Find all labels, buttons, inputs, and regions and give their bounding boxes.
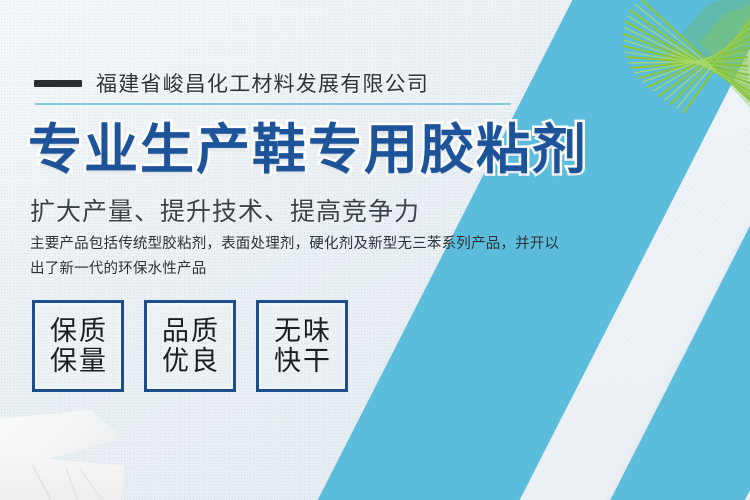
feature-box-3-line-1: 无味 xyxy=(272,316,332,346)
body-line-1: 主要产品包括传统型胶粘剂，表面处理剂，硬化剂及新型无三苯系列产品，并开以 xyxy=(30,232,590,257)
dash-mark-icon xyxy=(34,80,82,87)
company-name: 福建省峻昌化工材料发展有限公司 xyxy=(96,68,429,98)
body-line-2: 出了新一代的环保水性产品 xyxy=(30,257,590,282)
company-header: 福建省峻昌化工材料发展有限公司 xyxy=(34,68,429,98)
horizontal-rule xyxy=(35,103,511,105)
body-description: 主要产品包括传统型胶粘剂，表面处理剂，硬化剂及新型无三苯系列产品，并开以 出了新… xyxy=(30,232,590,282)
feature-box-1-line-2: 保量 xyxy=(48,346,108,376)
promo-banner: 福建省峻昌化工材料发展有限公司 专业生产鞋专用胶粘剂 扩大产量、提升技术、提高竞… xyxy=(0,0,750,500)
feature-box-2-line-1: 品质 xyxy=(160,316,220,346)
feature-box-2: 品质 优良 xyxy=(144,300,236,392)
product-pedestal xyxy=(0,410,124,500)
feature-box-1: 保质 保量 xyxy=(32,300,124,392)
feature-box-2-line-2: 优良 xyxy=(160,346,220,376)
feature-box-3-line-2: 快干 xyxy=(272,346,332,376)
headline: 专业生产鞋专用胶粘剂 xyxy=(28,122,588,179)
feature-box-group: 保质 保量 品质 优良 无味 快干 xyxy=(32,300,348,392)
feature-box-3: 无味 快干 xyxy=(256,300,348,392)
feature-box-1-line-1: 保质 xyxy=(48,316,108,346)
subtitle: 扩大产量、提升技术、提高竞争力 xyxy=(30,192,420,228)
